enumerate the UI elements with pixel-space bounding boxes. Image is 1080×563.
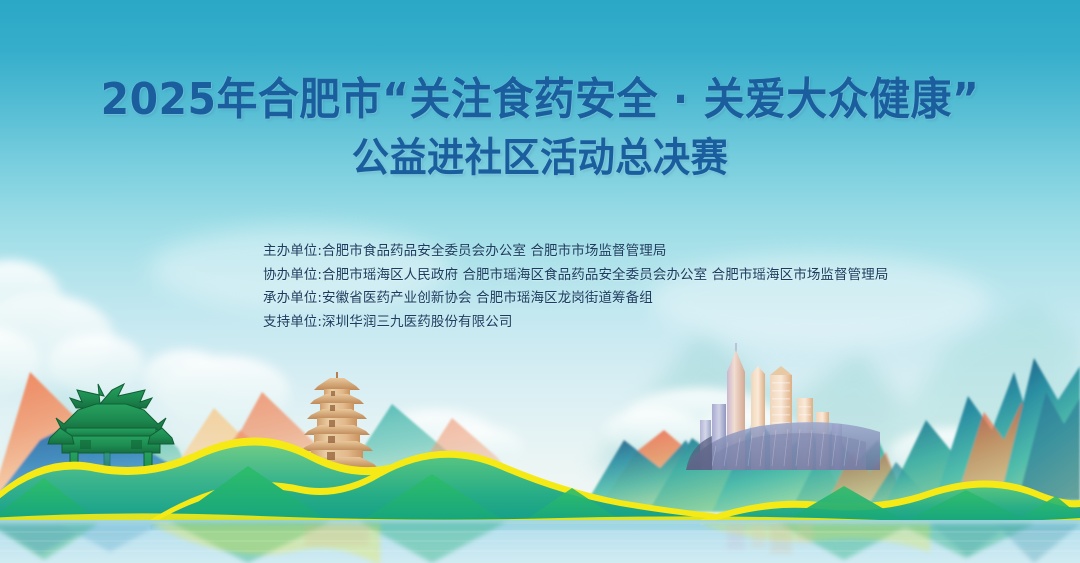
organizer-line-undertaker: 承办单位:安徽省医药产业创新协会 合肥市瑶海区龙岗街道筹备组: [263, 287, 888, 311]
organizer-list: 主办单位:合肥市食品药品安全委员会办公室 合肥市市场监督管理局 协办单位:合肥市…: [263, 240, 888, 334]
organizer-line-host: 主办单位:合肥市食品药品安全委员会办公室 合肥市市场监督管理局: [263, 240, 888, 264]
title-line-1: 2025年合肥市“关注食药安全 · 关爱大众健康”: [38, 78, 1042, 122]
title-line-2: 公益进社区活动总决赛: [38, 138, 1042, 178]
event-poster: 2025年合肥市“关注食药安全 · 关爱大众健康” 公益进社区活动总决赛 主办单…: [0, 0, 1080, 563]
organizer-line-coorganizer: 协办单位:合肥市瑶海区人民政府 合肥市瑶海区食品药品安全委员会办公室 合肥市瑶海…: [263, 264, 888, 288]
organizer-line-supporter: 支持单位:深圳华润三九医药股份有限公司: [263, 311, 888, 335]
poster-title: 2025年合肥市“关注食药安全 · 关爱大众健康” 公益进社区活动总决赛: [0, 78, 1080, 178]
